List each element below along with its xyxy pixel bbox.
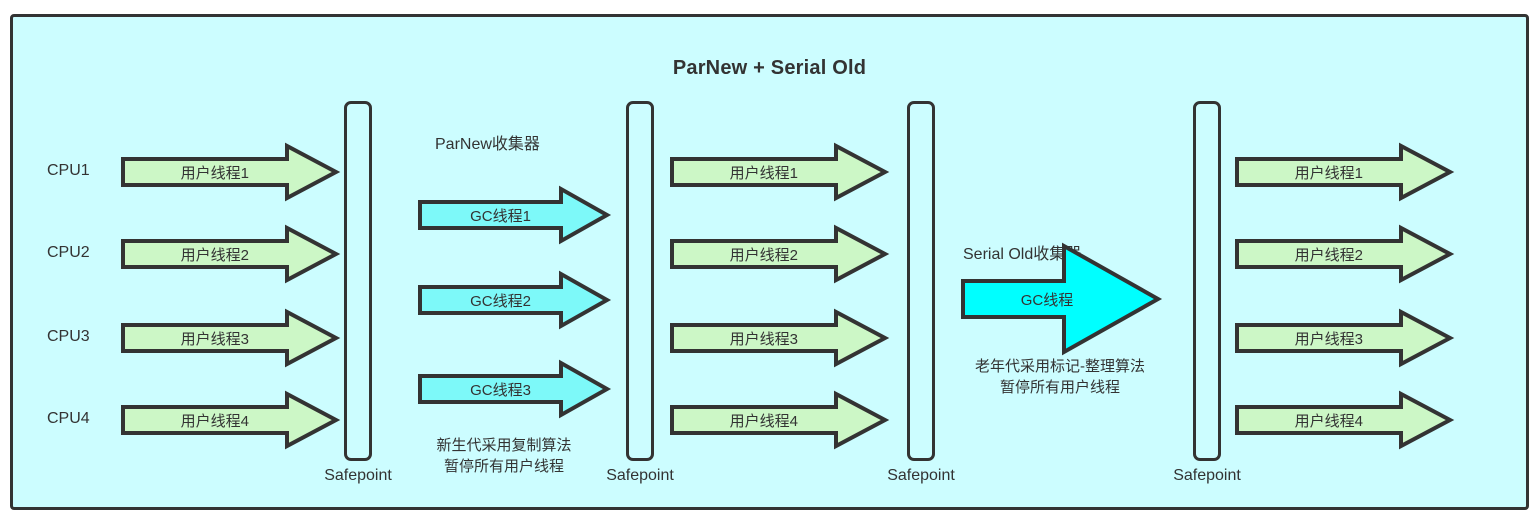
gc-thread-arrow-1: GC线程1 (418, 186, 610, 244)
page-title: ParNew + Serial Old (13, 57, 1526, 80)
user-thread-arrow-1-4: 用户线程4 (121, 391, 339, 449)
user-thread-arrow-1-1: 用户线程1 (121, 143, 339, 201)
safepoint-label-2: Safepoint (606, 467, 674, 485)
gc-thread-arrow-2: GC线程2 (418, 271, 610, 329)
parnew-collector-label: ParNew收集器 (435, 130, 540, 154)
user-thread-arrow-3-1: 用户线程1 (1235, 143, 1453, 201)
user-thread-arrow-1-2: 用户线程2 (121, 225, 339, 283)
user-thread-arrow-2-4: 用户线程4 (670, 391, 888, 449)
cpu-label-2: CPU2 (47, 244, 90, 262)
safepoint-label-3: Safepoint (887, 467, 955, 485)
diagram-canvas: ParNew + Serial Old CPU1 CPU2 CPU3 CPU4 … (0, 0, 1539, 528)
cpu-label-4: CPU4 (47, 410, 90, 428)
safepoint-bar-2 (626, 101, 654, 461)
serial-old-caption-line-2: 暂停所有用户线程 (975, 377, 1145, 398)
user-thread-arrow-2-3: 用户线程3 (670, 309, 888, 367)
user-thread-arrow-3-3: 用户线程3 (1235, 309, 1453, 367)
user-thread-arrow-2-2: 用户线程2 (670, 225, 888, 283)
user-thread-arrow-1-3: 用户线程3 (121, 309, 339, 367)
parnew-caption: 新生代采用复制算法 暂停所有用户线程 (436, 435, 571, 477)
parnew-caption-line-2: 暂停所有用户线程 (436, 456, 571, 477)
safepoint-bar-3 (907, 101, 935, 461)
user-thread-arrow-3-4: 用户线程4 (1235, 391, 1453, 449)
gc-thread-arrow-3: GC线程3 (418, 360, 610, 418)
diagram-panel: ParNew + Serial Old CPU1 CPU2 CPU3 CPU4 … (10, 14, 1529, 510)
user-thread-arrow-3-2: 用户线程2 (1235, 225, 1453, 283)
safepoint-label-1: Safepoint (324, 467, 392, 485)
safepoint-bar-1 (344, 101, 372, 461)
cpu-label-3: CPU3 (47, 328, 90, 346)
safepoint-bar-4 (1193, 101, 1221, 461)
safepoint-label-4: Safepoint (1173, 467, 1241, 485)
serial-old-caption: 老年代采用标记-整理算法 暂停所有用户线程 (975, 356, 1145, 398)
serial-old-gc-thread-arrow: GC线程 (961, 243, 1161, 355)
user-thread-arrow-2-1: 用户线程1 (670, 143, 888, 201)
parnew-caption-line-1: 新生代采用复制算法 (436, 435, 571, 456)
serial-old-caption-line-1: 老年代采用标记-整理算法 (975, 356, 1145, 377)
cpu-label-1: CPU1 (47, 162, 90, 180)
